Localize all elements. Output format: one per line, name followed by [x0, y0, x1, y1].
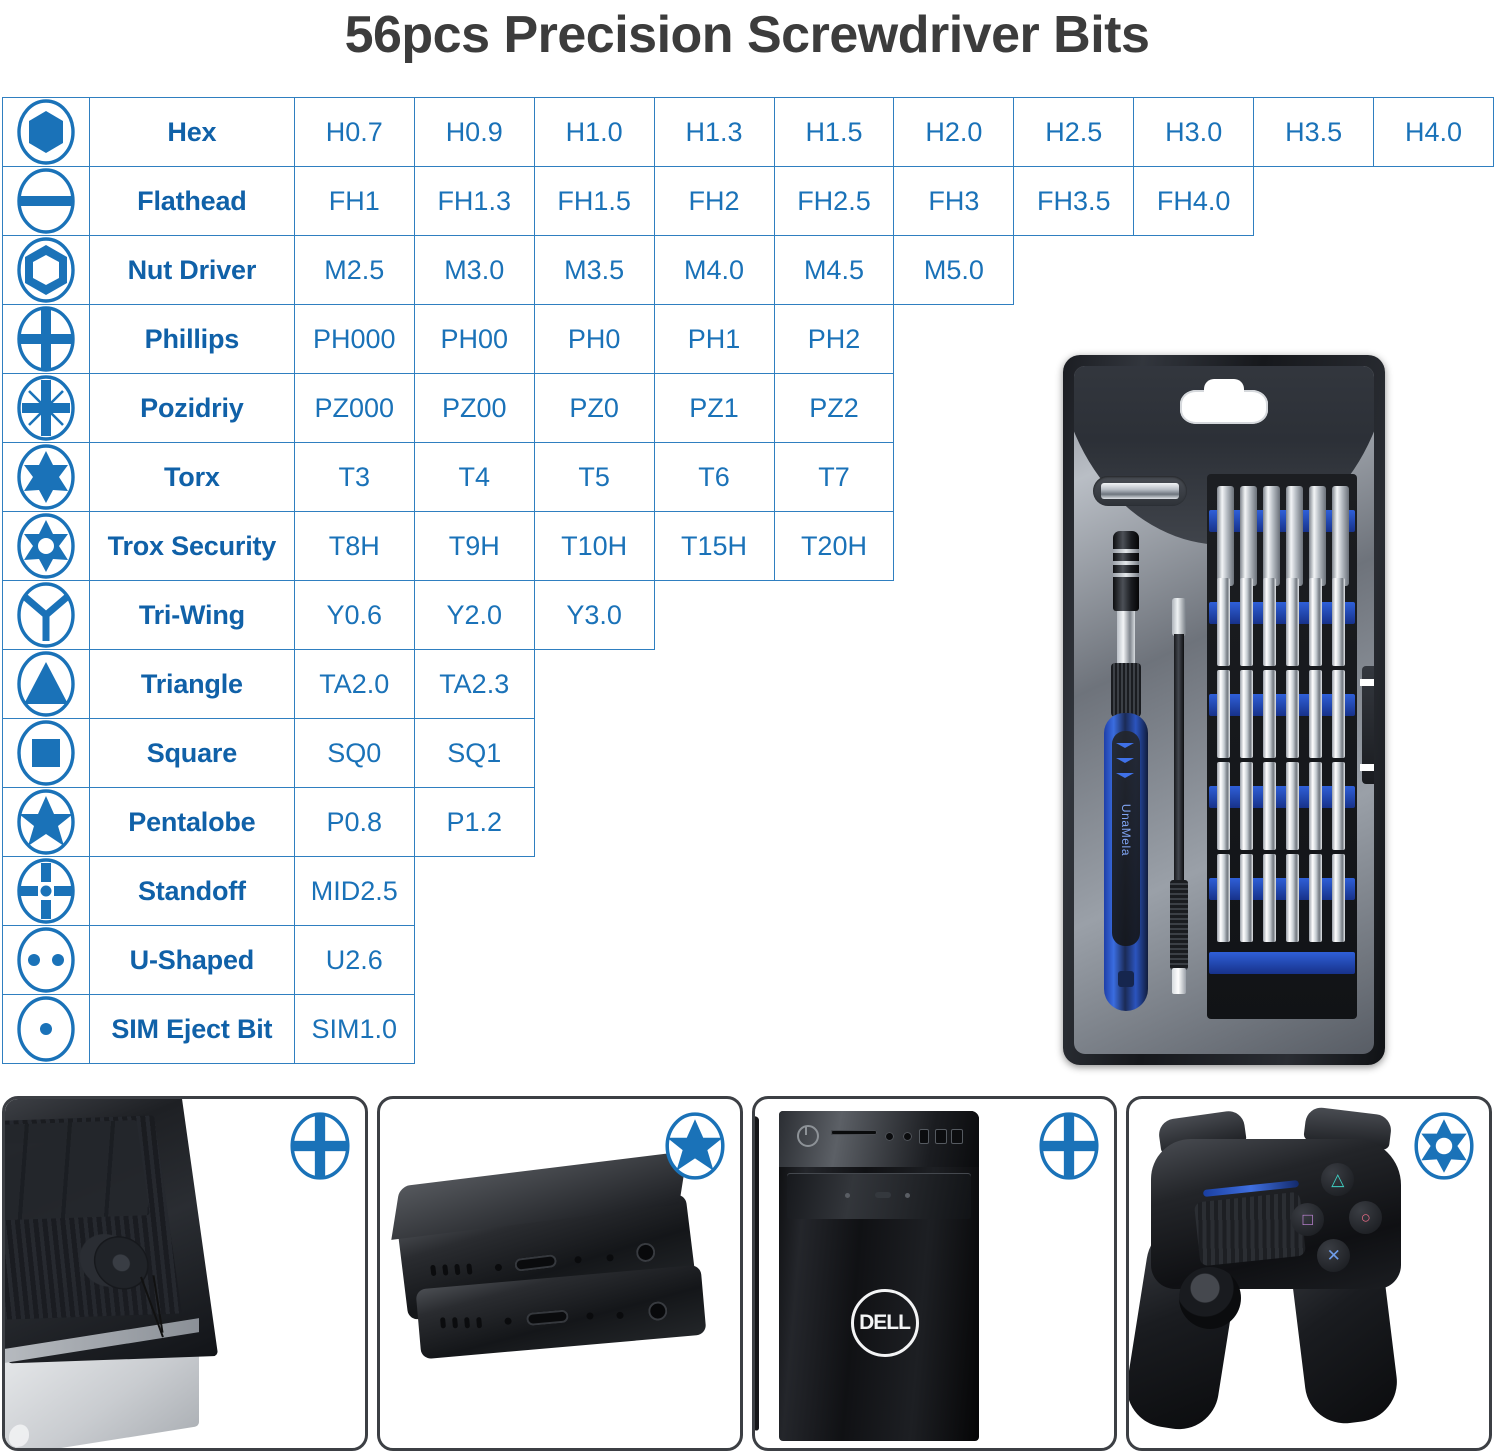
bit-type-icon-cell [3, 650, 90, 719]
drive-led [905, 1193, 910, 1198]
bit-size-cell: P1.2 [414, 788, 534, 857]
speaker-hole [476, 1317, 482, 1328]
package-insert: UnaMela [1074, 366, 1374, 1054]
phillips-icon [16, 305, 76, 373]
empty-cell [534, 788, 654, 857]
phone-upper-back [391, 1151, 687, 1240]
bit-type-label: SIM Eject Bit [89, 995, 294, 1064]
empty-cell [414, 857, 534, 926]
bit-type-label: Square [89, 719, 294, 788]
bit-type-icon-cell [3, 98, 90, 167]
bit-size-cell: SQ1 [414, 719, 534, 788]
handle-knurl [1111, 663, 1141, 717]
bit-size-cell: FH2 [654, 167, 774, 236]
speaker-hole [442, 1264, 448, 1276]
bit-type-icon-cell [3, 995, 90, 1064]
screwdriver-bit [1309, 854, 1322, 942]
bit-type-icon-cell [3, 926, 90, 995]
bit-size-cell: T20H [774, 512, 894, 581]
screwdriver-bit [1217, 762, 1230, 850]
microphone-hole [504, 1317, 512, 1325]
handle-ring [1113, 561, 1139, 565]
headphone-jack [635, 1242, 656, 1263]
bit-type-label: Trox Security [89, 512, 294, 581]
bit-size-cell: FH3.5 [1014, 167, 1134, 236]
standoff-icon [16, 857, 76, 925]
handle-grip: UnaMela [1104, 713, 1148, 1011]
bit-size-cell: PZ1 [654, 374, 774, 443]
speaker-hole [464, 1317, 470, 1328]
screwdriver-bit [1240, 578, 1253, 666]
bit-size-cell: T6 [654, 443, 774, 512]
bit-size-cell: U2.6 [294, 926, 414, 995]
bit-type-label: Triangle [89, 650, 294, 719]
bit-type-icon-cell [3, 305, 90, 374]
bit-size-cell: TA2.3 [414, 650, 534, 719]
audio-jack [885, 1132, 894, 1141]
bit-type-label: Flathead [89, 167, 294, 236]
analog-stick[interactable] [1179, 1267, 1241, 1329]
bit-size-cell: T9H [414, 512, 534, 581]
bit-size-cell: FH4.0 [1134, 167, 1254, 236]
screwdriver-bit [1217, 486, 1234, 586]
screwdriver-bit [1263, 486, 1280, 586]
bit-type-label: Tri-Wing [89, 581, 294, 650]
empty-cell [1374, 995, 1494, 1064]
empty-cell [894, 719, 1014, 788]
bit-type-icon-cell [3, 581, 90, 650]
triangle-button[interactable]: △ [1321, 1163, 1354, 1196]
circle-button[interactable]: ○ [1349, 1201, 1382, 1234]
flathead-icon [16, 167, 76, 235]
bit-size-cell: PZ0 [534, 374, 654, 443]
bit-type-icon-cell [3, 236, 90, 305]
bit-size-cell: M4.0 [654, 236, 774, 305]
bit-size-cell: M3.5 [534, 236, 654, 305]
empty-cell [654, 650, 774, 719]
screwdriver-bit [1286, 578, 1299, 666]
screwdriver-bit [1309, 670, 1322, 758]
empty-cell [894, 788, 1014, 857]
bit-type-label: Standoff [89, 857, 294, 926]
speaker-hole [440, 1317, 446, 1328]
bit-type-icon-cell [3, 374, 90, 443]
empty-cell [654, 995, 774, 1064]
optical-drive-bay [787, 1173, 971, 1219]
headphone-jack [647, 1301, 668, 1322]
bit-size-cell: T15H [654, 512, 774, 581]
empty-cell [894, 512, 1014, 581]
extension-bar-collar [1172, 598, 1186, 636]
apple-logo [9, 1423, 29, 1448]
bit-size-cell: H3.0 [1134, 98, 1254, 167]
pozidriv-icon [16, 374, 76, 442]
hex-icon [16, 98, 76, 166]
screwdriver-bit [1240, 486, 1257, 586]
tri-wing-icon [16, 581, 76, 649]
bit-type-icon-cell [3, 788, 90, 857]
bit-size-cell: FH1 [294, 167, 414, 236]
bit-tray [1207, 474, 1357, 1019]
bit-size-cell: H4.0 [1374, 98, 1494, 167]
empty-cell [1014, 236, 1134, 305]
microphone-hole [494, 1264, 502, 1272]
triangle-icon [16, 650, 76, 718]
screwdriver-bit [1263, 854, 1276, 942]
empty-cell [534, 650, 654, 719]
application-panels: DELL △ □ ○ ✕ [2, 1096, 1492, 1451]
bit-size-cell: H1.0 [534, 98, 654, 167]
tower-side-panel [752, 1113, 759, 1431]
bit-size-cell: H3.5 [1254, 98, 1374, 167]
empty-cell [534, 926, 654, 995]
screwdriver-bit [1332, 762, 1345, 850]
empty-cell [534, 995, 654, 1064]
screwdriver-kit-package: UnaMela [1063, 355, 1385, 1065]
speaker-hole [454, 1264, 460, 1276]
bit-type-label: Pozidriy [89, 374, 294, 443]
handle-ring [1113, 549, 1139, 553]
empty-cell [654, 581, 774, 650]
table-row: HexH0.7H0.9H1.0H1.3H1.5H2.0H2.5H3.0H3.5H… [3, 98, 1494, 167]
phillips-icon [289, 1111, 351, 1181]
torx-security-icon [1413, 1111, 1475, 1181]
empty-cell [774, 650, 894, 719]
extension-bar-tip [1172, 968, 1186, 994]
empty-cell [414, 926, 534, 995]
square-button[interactable]: □ [1291, 1203, 1324, 1236]
bit-size-cell: SIM1.0 [294, 995, 414, 1064]
empty-cell [654, 788, 774, 857]
smartphone-repair-panel [377, 1096, 743, 1451]
controller-body: △ □ ○ ✕ [1151, 1139, 1401, 1289]
screwdriver-bit [1286, 670, 1299, 758]
bit-size-cell: H2.0 [894, 98, 1014, 167]
nut-driver-icon [16, 236, 76, 304]
screwdriver-bit [1217, 854, 1230, 942]
screwdriver-bit [1286, 762, 1299, 850]
empty-cell [1374, 719, 1494, 788]
bit-size-cell: M2.5 [294, 236, 414, 305]
empty-cell [1374, 305, 1494, 374]
usb-port [951, 1129, 963, 1144]
bit-size-cell: T4 [414, 443, 534, 512]
speaker-hole [466, 1263, 472, 1275]
empty-cell [1374, 788, 1494, 857]
bit-holder-row [1209, 952, 1355, 974]
bit-size-cell: PZ00 [414, 374, 534, 443]
empty-cell [414, 995, 534, 1064]
empty-cell [894, 926, 1014, 995]
empty-cell [1374, 512, 1494, 581]
bit-size-cell: PH00 [414, 305, 534, 374]
bit-size-cell: PZ000 [294, 374, 414, 443]
screwdriver-bit [1332, 670, 1345, 758]
empty-cell [774, 926, 894, 995]
bit-size-cell: P0.8 [294, 788, 414, 857]
empty-cell [894, 995, 1014, 1064]
bit-type-icon-cell [3, 719, 90, 788]
empty-cell [894, 581, 1014, 650]
bit-size-cell: T10H [534, 512, 654, 581]
bit-size-cell: M5.0 [894, 236, 1014, 305]
bit-size-cell: FH1.3 [414, 167, 534, 236]
usb-c-port [514, 1254, 557, 1272]
desktop-pc-panel: DELL [752, 1096, 1118, 1451]
screwdriver-handle: UnaMela [1104, 531, 1148, 1011]
hang-hole [1180, 390, 1268, 424]
screwdriver-bit [1240, 762, 1253, 850]
empty-cell [894, 443, 1014, 512]
bit-size-cell: T8H [294, 512, 414, 581]
screwdriver-bit [1309, 762, 1322, 850]
empty-cell [534, 719, 654, 788]
bit-size-cell: PH1 [654, 305, 774, 374]
empty-cell [1134, 236, 1254, 305]
usb-port [935, 1129, 947, 1144]
drive-eject-button[interactable] [875, 1192, 891, 1198]
extension-bar-rod [1174, 634, 1184, 884]
bit-size-cell: H0.9 [414, 98, 534, 167]
table-row: Nut DriverM2.5M3.0M3.5M4.0M4.5M5.0 [3, 236, 1494, 305]
empty-cell [1254, 236, 1374, 305]
bit-size-cell: H1.5 [774, 98, 894, 167]
empty-cell [534, 857, 654, 926]
bit-size-cell: FH1.5 [534, 167, 654, 236]
empty-cell [654, 719, 774, 788]
empty-cell [894, 650, 1014, 719]
square-icon [16, 719, 76, 787]
drive-led [845, 1193, 850, 1198]
socket-adapter [1101, 483, 1179, 499]
screwdriver-bit [1240, 670, 1253, 758]
bit-type-icon-cell [3, 167, 90, 236]
torx-icon [16, 443, 76, 511]
extension-bar [1169, 598, 1189, 1013]
tower-front: DELL [779, 1111, 979, 1441]
screwdriver-bit [1309, 578, 1322, 666]
bit-size-cell: Y2.0 [414, 581, 534, 650]
screwdriver-bit [1332, 578, 1345, 666]
handle-shaft [1117, 611, 1135, 666]
sim-eject-icon [16, 995, 76, 1063]
empty-cell [1374, 650, 1494, 719]
empty-cell [774, 995, 894, 1064]
page-title: 56pcs Precision Screwdriver Bits [0, 2, 1494, 68]
bit-type-label: Pentalobe [89, 788, 294, 857]
bit-size-cell: H0.7 [294, 98, 414, 167]
screwdriver-bit [1240, 854, 1253, 942]
sd-card-slot [831, 1130, 877, 1135]
power-button[interactable] [797, 1125, 819, 1147]
screwdriver-bit [1263, 762, 1276, 850]
empty-cell [1374, 926, 1494, 995]
screwdriver-bit [1332, 486, 1349, 586]
pentalobe-icon [16, 788, 76, 856]
empty-cell [894, 374, 1014, 443]
empty-cell [1374, 857, 1494, 926]
bit-type-label: Phillips [89, 305, 294, 374]
phillips-icon [1038, 1111, 1100, 1181]
microphone-hole [616, 1312, 624, 1320]
bit-size-cell: H2.5 [1014, 98, 1134, 167]
torx-security-icon [16, 512, 76, 580]
bit-size-cell: FH2.5 [774, 167, 894, 236]
screwdriver-bit [1263, 670, 1276, 758]
game-controller-panel: △ □ ○ ✕ [1126, 1096, 1492, 1451]
empty-cell [774, 788, 894, 857]
bit-type-label: Hex [89, 98, 294, 167]
bit-size-cell: T3 [294, 443, 414, 512]
bit-type-label: U-Shaped [89, 926, 294, 995]
u-shaped-icon [16, 926, 76, 994]
bit-type-label: Nut Driver [89, 236, 294, 305]
empty-cell [1374, 443, 1494, 512]
screwdriver-bit [1217, 578, 1230, 666]
battery-cells [2, 1120, 150, 1220]
table-row: FlatheadFH1FH1.3FH1.5FH2FH2.5FH3FH3.5FH4… [3, 167, 1494, 236]
chevron-up-icon [1116, 743, 1136, 787]
bit-size-cell: Y3.0 [534, 581, 654, 650]
socket-adapter-slot [1093, 476, 1187, 506]
empty-cell [894, 857, 1014, 926]
microphone-hole [574, 1256, 582, 1264]
handle-ring [1113, 573, 1139, 577]
usb-c-port [526, 1309, 569, 1326]
bit-size-cell: H1.3 [654, 98, 774, 167]
empty-cell [654, 857, 774, 926]
bit-size-cell: M3.0 [414, 236, 534, 305]
empty-cell [774, 581, 894, 650]
screwdriver-bit [1286, 854, 1299, 942]
bit-size-cell: M4.5 [774, 236, 894, 305]
bit-size-cell: MID2.5 [294, 857, 414, 926]
audio-jack [903, 1132, 912, 1141]
bit-type-label: Torx [89, 443, 294, 512]
hex-recess [1118, 971, 1134, 987]
bit-size-cell: PH000 [294, 305, 414, 374]
bit-size-cell: SQ0 [294, 719, 414, 788]
bit-type-icon-cell [3, 512, 90, 581]
package-latch-tab [1362, 666, 1374, 784]
empty-cell [1374, 236, 1494, 305]
screwdriver-bit [1286, 486, 1303, 586]
usb-port [919, 1129, 929, 1144]
microphone-hole [586, 1312, 594, 1320]
tower-io-strip [779, 1111, 979, 1167]
cross-button[interactable]: ✕ [1317, 1239, 1350, 1272]
empty-cell [654, 926, 774, 995]
laptop-repair-panel [2, 1096, 368, 1451]
handle-cap [1113, 531, 1139, 611]
dell-logo: DELL [851, 1289, 919, 1357]
bit-size-cell: PH0 [534, 305, 654, 374]
empty-cell [1254, 167, 1374, 236]
empty-cell [1374, 581, 1494, 650]
bit-size-cell: Y0.6 [294, 581, 414, 650]
microphone-hole [606, 1254, 614, 1262]
screwdriver-bit [1263, 578, 1276, 666]
bit-type-icon-cell [3, 443, 90, 512]
bit-size-cell: T5 [534, 443, 654, 512]
brand-label: UnaMela [1119, 802, 1133, 858]
empty-cell [894, 305, 1014, 374]
touchpad [1194, 1192, 1306, 1267]
screwdriver-bit [1332, 854, 1345, 942]
empty-cell [774, 719, 894, 788]
extension-bar-knurl [1170, 880, 1188, 970]
speaker-hole [452, 1317, 458, 1328]
pentalobe-icon [664, 1111, 726, 1181]
speaker-hole [430, 1265, 436, 1277]
bit-size-cell: TA2.0 [294, 650, 414, 719]
bit-size-cell: FH3 [894, 167, 1014, 236]
empty-cell [1374, 167, 1494, 236]
bit-size-cell: PZ2 [774, 374, 894, 443]
screwdriver-bit [1217, 670, 1230, 758]
bit-size-cell: T7 [774, 443, 894, 512]
bit-type-icon-cell [3, 857, 90, 926]
bit-size-cell: PH2 [774, 305, 894, 374]
screwdriver-bit [1309, 486, 1326, 586]
empty-cell [1374, 374, 1494, 443]
empty-cell [774, 857, 894, 926]
